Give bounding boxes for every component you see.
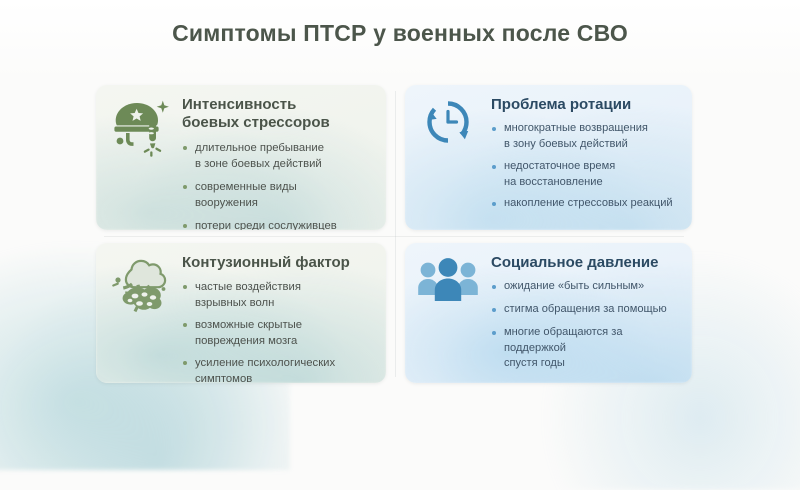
list-item: стигма обращения за помощью [491,302,680,318]
list-item: современные виды вооружения [182,179,374,211]
row-divider [104,236,684,237]
bullet-text: частые воздействия взрывных волн [195,281,301,309]
military-helmet-icon [96,85,182,230]
list-item: многие обращаются за поддержкой спустя г… [491,325,680,372]
card-rotation[interactable]: Проблема ротации многократные возвращени… [405,85,692,230]
bullet-text: усиление психологических симптомов [195,357,335,383]
card-heading: Проблема ротации [491,96,680,114]
card-bullet-list: частые воздействия взрывных волн возможн… [182,279,374,383]
list-item: многократные возвращения в зону боевых д… [491,121,680,153]
list-item: потери среди сослуживцев [182,218,374,230]
card-body: Социальное давление ожидание «быть сильн… [491,243,692,383]
card-body: Проблема ротации многократные возвращени… [491,85,692,230]
card-heading-line2: боевых стрессоров [182,114,330,131]
card-bullet-list: многократные возвращения в зону боевых д… [491,121,680,212]
cards-grid: Интенсивность боевых стрессоров длительн… [96,85,692,383]
bullet-text: многократные возвращения в зону боевых д… [504,122,648,150]
card-body: Интенсивность боевых стрессоров длительн… [182,85,386,230]
list-item: ожидание «быть сильным» [491,279,680,295]
card-bullet-list: ожидание «быть сильным» стигма обращения… [491,279,680,372]
group-people-icon [405,243,491,383]
bullet-text: возможные скрытые повреждения мозга [195,319,302,347]
card-body: Контузионный фактор частые воздействия в… [182,243,386,383]
list-item: длительное пребывание в зоне боевых дейс… [182,140,374,172]
list-item: частые воздействия взрывных волн [182,279,374,311]
card-heading: Интенсивность боевых стрессоров [182,96,374,133]
list-item: накопление стрессовых реакций [491,196,680,212]
card-bullet-list: длительное пребывание в зоне боевых дейс… [182,140,374,230]
card-heading: Социальное давление [491,254,680,272]
column-divider [395,91,396,377]
card-heading-line1: Интенсивность [182,96,296,113]
brain-blast-icon [96,243,182,383]
bullet-text: многие обращаются за поддержкой спустя г… [504,326,623,370]
card-social-pressure[interactable]: Социальное давление ожидание «быть сильн… [405,243,692,383]
list-item: недостаточное время на восстановление [491,159,680,191]
list-item: возможные скрытые повреждения мозга [182,317,374,349]
bullet-text: стигма обращения за помощью [504,303,667,315]
bullet-text: накопление стрессовых реакций [504,197,673,209]
page-title: Симптомы ПТСР у военных после СВО [0,20,800,47]
card-concussion[interactable]: Контузионный фактор частые воздействия в… [96,243,386,383]
rotation-clock-icon [405,85,491,230]
bullet-text: современные виды вооружения [195,181,297,209]
card-heading: Контузионный фактор [182,254,374,272]
bullet-text: потери среди сослуживцев [195,220,337,230]
list-item: усиление психологических симптомов [182,355,374,383]
card-intensity[interactable]: Интенсивность боевых стрессоров длительн… [96,85,386,230]
bullet-text: недостаточное время на восстановление [504,160,615,188]
bullet-text: ожидание «быть сильным» [504,280,644,292]
bullet-text: длительное пребывание в зоне боевых дейс… [195,142,324,170]
